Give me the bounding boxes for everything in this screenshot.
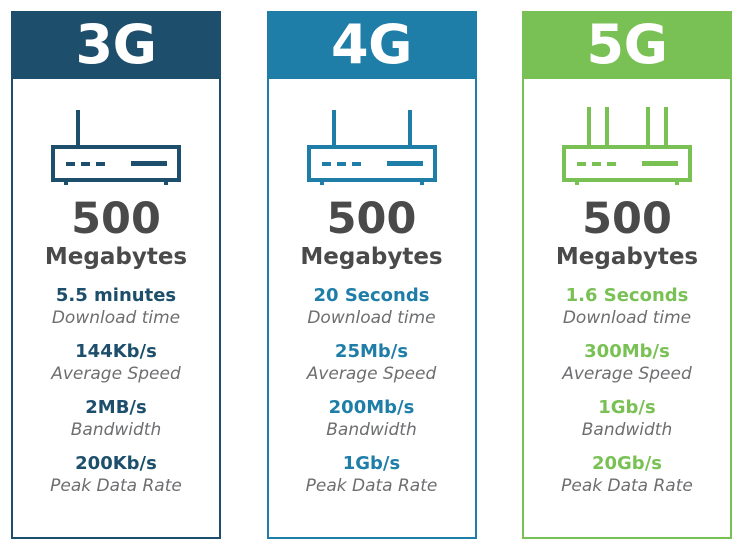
card-header-3g: 3G <box>11 11 221 79</box>
card-5g: 5G <box>522 11 732 539</box>
stat-value: 200Mb/s <box>326 397 417 420</box>
stat-label: Bandwidth <box>71 420 162 440</box>
stat-value: 5.5 minutes <box>52 285 180 308</box>
stat-download-time-4g: 20 Seconds Download time <box>307 285 435 328</box>
stats-list-4g: 20 Seconds Download time 25Mb/s Average … <box>269 285 475 509</box>
stat-value: 2MB/s <box>71 397 162 420</box>
stat-value: 20Gb/s <box>561 453 693 476</box>
stat-label: Peak Data Rate <box>50 476 182 496</box>
stat-peak-data-rate-3g: 200Kb/s Peak Data Rate <box>50 453 182 496</box>
router-2-antenna-icon <box>297 95 447 187</box>
data-size-unit-5g: Megabytes <box>556 244 698 270</box>
stat-label: Peak Data Rate <box>306 476 438 496</box>
stat-average-speed-5g: 300Mb/s Average Speed <box>562 341 692 384</box>
card-header-5g: 5G <box>522 11 732 79</box>
stat-label: Average Speed <box>307 364 437 384</box>
stat-value: 144Kb/s <box>51 341 181 364</box>
stat-average-speed-3g: 144Kb/s Average Speed <box>51 341 181 384</box>
card-body-3g: 500 Megabytes 5.5 minutes Download time … <box>11 79 221 539</box>
data-size-number-3g: 500 <box>71 198 161 241</box>
card-4g: 4G <box>267 11 477 539</box>
card-body-5g: 500 Megabytes 1.6 Seconds Download time … <box>522 79 732 539</box>
stat-label: Average Speed <box>562 364 692 384</box>
stat-label: Download time <box>52 308 180 328</box>
stat-label: Bandwidth <box>582 420 673 440</box>
stat-bandwidth-3g: 2MB/s Bandwidth <box>71 397 162 440</box>
stat-bandwidth-5g: 1Gb/s Bandwidth <box>582 397 673 440</box>
card-header-4g: 4G <box>267 11 477 79</box>
stat-value: 25Mb/s <box>307 341 437 364</box>
data-size-number-5g: 500 <box>582 198 672 241</box>
stat-label: Download time <box>307 308 435 328</box>
card-3g: 3G 5 <box>11 11 221 539</box>
stats-list-3g: 5.5 minutes Download time 144Kb/s Averag… <box>13 285 219 509</box>
data-size-unit-4g: Megabytes <box>300 244 442 270</box>
stat-bandwidth-4g: 200Mb/s Bandwidth <box>326 397 417 440</box>
card-body-4g: 500 Megabytes 20 Seconds Download time 2… <box>267 79 477 539</box>
stat-average-speed-4g: 25Mb/s Average Speed <box>307 341 437 384</box>
stat-peak-data-rate-4g: 1Gb/s Peak Data Rate <box>306 453 438 496</box>
stats-list-5g: 1.6 Seconds Download time 300Mb/s Averag… <box>524 285 730 509</box>
router-1-antenna-icon <box>41 95 191 187</box>
stat-value: 1.6 Seconds <box>563 285 691 308</box>
stat-label: Bandwidth <box>326 420 417 440</box>
card-header-label-4g: 4G <box>331 18 412 72</box>
data-size-unit-3g: Megabytes <box>45 244 187 270</box>
stat-value: 300Mb/s <box>562 341 692 364</box>
stat-value: 200Kb/s <box>50 453 182 476</box>
stat-value: 1Gb/s <box>306 453 438 476</box>
stat-label: Peak Data Rate <box>561 476 693 496</box>
card-header-label-3g: 3G <box>76 18 157 72</box>
stat-value: 20 Seconds <box>307 285 435 308</box>
data-size-number-4g: 500 <box>327 198 417 241</box>
stat-value: 1Gb/s <box>582 397 673 420</box>
stat-label: Download time <box>563 308 691 328</box>
stat-download-time-3g: 5.5 minutes Download time <box>52 285 180 328</box>
stat-label: Average Speed <box>51 364 181 384</box>
router-4-antenna-icon <box>552 95 702 187</box>
card-header-label-5g: 5G <box>587 18 668 72</box>
stat-download-time-5g: 1.6 Seconds Download time <box>563 285 691 328</box>
network-generation-comparison-infographic: 3G 5 <box>0 0 743 539</box>
stat-peak-data-rate-5g: 20Gb/s Peak Data Rate <box>561 453 693 496</box>
